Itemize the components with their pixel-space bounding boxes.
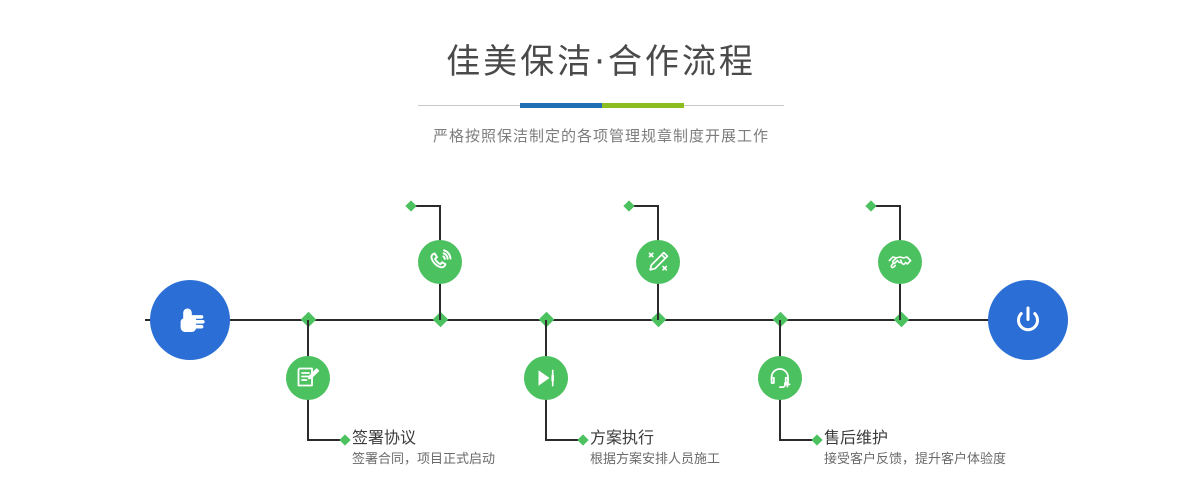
step-3-tip-dot: [623, 200, 634, 211]
step-6-tip-dot: [865, 200, 876, 211]
header: 佳美保洁·合作流程 严格按照保洁制定的各项管理规章制度开展工作: [0, 0, 1202, 146]
divider-green-segment: [602, 103, 684, 108]
step-5-tip-dot: [811, 434, 822, 445]
step-4-connector-horizontal: [545, 439, 581, 441]
step-2-title: 签署协议: [352, 428, 495, 448]
handshake-icon: [887, 249, 913, 275]
step-3-icon-badge[interactable]: [636, 240, 680, 284]
step-5-desc: 接受客户反馈，提升客户体验度: [824, 451, 1006, 469]
step-4-desc: 根据方案安排人员施工: [590, 451, 720, 469]
document-edit-icon: [295, 365, 321, 391]
pointing-hand-icon: [168, 298, 212, 342]
step-1-tip-dot: [405, 200, 416, 211]
step-2-icon-badge[interactable]: [286, 356, 330, 400]
pencil-design-icon: [645, 249, 671, 275]
step-2-desc: 签署合同，项目正式启动: [352, 451, 495, 469]
timeline-marker-6: [894, 312, 910, 328]
step-5-label: 售后维护 接受客户反馈，提升客户体验度: [824, 428, 1006, 469]
step-5-title: 售后维护: [824, 428, 1006, 448]
step-4-label: 方案执行 根据方案安排人员施工: [590, 428, 720, 469]
step-5-connector-horizontal: [779, 439, 815, 441]
power-icon: [1006, 298, 1050, 342]
step-4-icon-badge[interactable]: [524, 356, 568, 400]
step-1-icon-badge[interactable]: [418, 240, 462, 284]
step-2-connector-horizontal: [307, 439, 343, 441]
divider-blue-segment: [520, 103, 602, 108]
timeline-end-node: [988, 280, 1068, 360]
page-title: 佳美保洁·合作流程: [0, 45, 1202, 79]
step-2-tip-dot: [339, 434, 350, 445]
page-subtitle: 严格按照保洁制定的各项管理规章制度开展工作: [0, 125, 1202, 146]
process-flow-infographic: 佳美保洁·合作流程 严格按照保洁制定的各项管理规章制度开展工作: [0, 0, 1202, 502]
step-4-tip-dot: [577, 434, 588, 445]
play-execute-icon: [533, 365, 559, 391]
timeline-start-node: [150, 280, 230, 360]
title-divider: [418, 101, 784, 111]
step-2-label: 签署协议 签署合同，项目正式启动: [352, 428, 495, 469]
step-4-title: 方案执行: [590, 428, 720, 448]
step-5-icon-badge[interactable]: [758, 356, 802, 400]
step-6-icon-badge[interactable]: [878, 240, 922, 284]
timeline-axis: [145, 319, 1057, 321]
headset-support-icon: [767, 365, 793, 391]
phone-call-icon: [427, 249, 453, 275]
